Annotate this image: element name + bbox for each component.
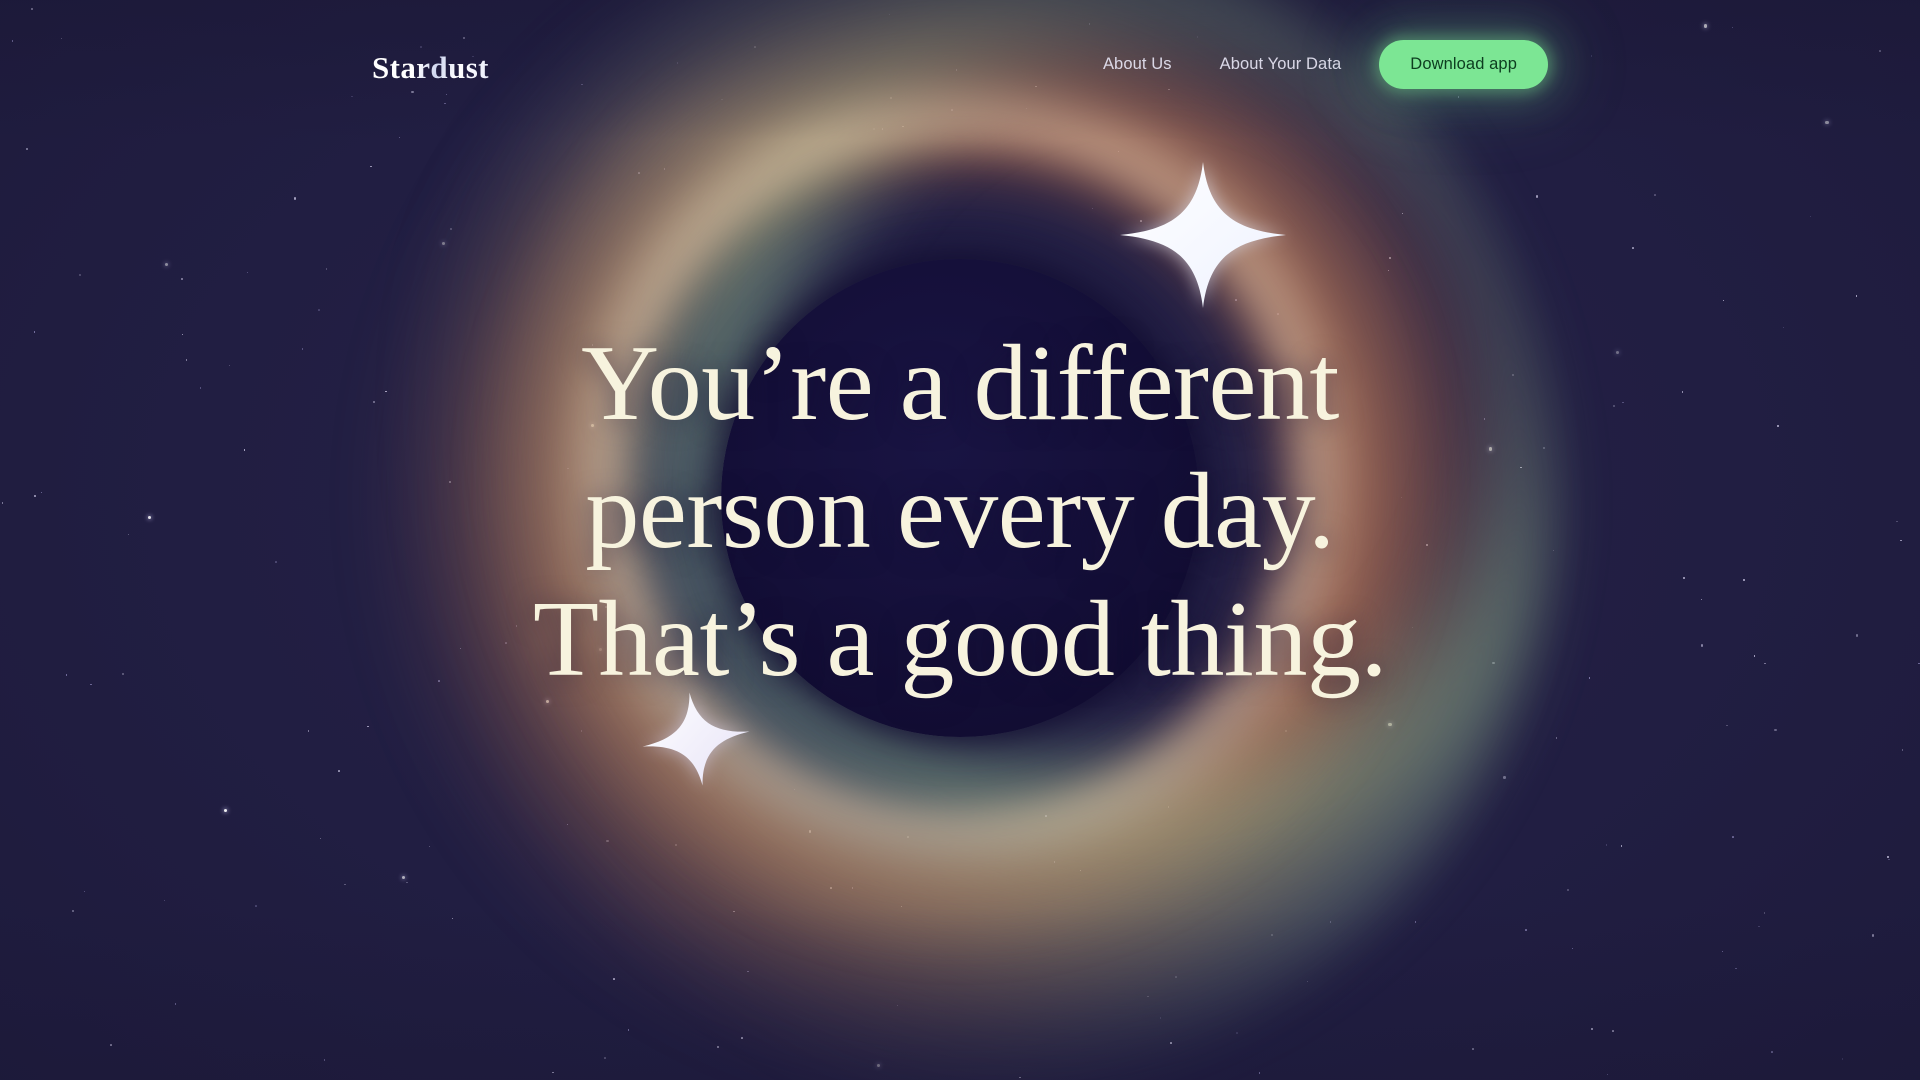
star-dot bbox=[1503, 776, 1505, 778]
star-dot bbox=[1735, 968, 1737, 970]
star-dot bbox=[320, 838, 322, 840]
star-dot bbox=[90, 684, 92, 686]
star-dot bbox=[373, 401, 375, 403]
star-dot bbox=[148, 516, 151, 519]
star-dot bbox=[1612, 1030, 1614, 1032]
star-dot bbox=[399, 137, 401, 139]
star-dot bbox=[1160, 1017, 1162, 1019]
star-dot bbox=[809, 830, 811, 832]
star-dot bbox=[1842, 1058, 1844, 1060]
star-dot bbox=[1556, 737, 1558, 739]
star-dot bbox=[41, 492, 43, 494]
star-dot bbox=[1175, 976, 1177, 978]
starfield bbox=[0, 0, 1920, 1080]
star-dot bbox=[794, 789, 796, 791]
star-dot bbox=[182, 334, 184, 336]
screen-vignette bbox=[0, 0, 1920, 1080]
star-dot bbox=[308, 730, 310, 732]
star-dot bbox=[623, 503, 625, 505]
star-dot bbox=[1726, 725, 1728, 727]
star-dot bbox=[1887, 856, 1889, 858]
star-dot bbox=[438, 680, 440, 682]
star-dot bbox=[604, 1057, 606, 1059]
star-dot bbox=[1732, 836, 1734, 838]
star-dot bbox=[1723, 300, 1725, 302]
star-dot bbox=[1758, 926, 1760, 928]
page-root: You’re a different person every day. Tha… bbox=[0, 0, 1920, 1080]
star-dot bbox=[1019, 1077, 1021, 1079]
star-dot bbox=[567, 824, 569, 826]
star-dot bbox=[1777, 425, 1779, 427]
star-dot bbox=[1771, 1051, 1773, 1053]
star-dot bbox=[1783, 327, 1785, 329]
star-dot bbox=[84, 891, 86, 893]
star-dot bbox=[628, 1029, 630, 1031]
star-dot bbox=[1900, 540, 1902, 542]
nav-link-about-us[interactable]: About Us bbox=[1103, 55, 1172, 74]
star-dot bbox=[186, 359, 188, 361]
star-dot bbox=[1536, 195, 1538, 197]
star-dot bbox=[1236, 1032, 1238, 1034]
star-dot bbox=[110, 1044, 112, 1046]
star-dot bbox=[599, 648, 602, 651]
star-dot bbox=[1080, 870, 1082, 872]
star-dot bbox=[128, 534, 130, 536]
star-dot bbox=[1170, 1042, 1172, 1044]
star-dot bbox=[229, 365, 231, 367]
star-dot bbox=[1285, 730, 1287, 732]
star-dot bbox=[552, 1072, 554, 1074]
star-dot bbox=[1054, 861, 1056, 863]
star-dot bbox=[1415, 921, 1417, 923]
eclipse-graphic bbox=[370, 0, 1550, 1080]
star-dot bbox=[546, 700, 549, 703]
star-dot bbox=[567, 468, 569, 470]
star-dot bbox=[450, 228, 452, 230]
star-dot bbox=[247, 272, 249, 274]
star-dot bbox=[302, 348, 304, 350]
star-dot bbox=[1589, 677, 1591, 679]
headline-line-3: That’s a good thing. bbox=[0, 586, 1920, 694]
star-dot bbox=[429, 846, 431, 848]
star-dot bbox=[1271, 934, 1273, 936]
star-dot bbox=[1520, 467, 1522, 469]
star-dot bbox=[324, 1059, 326, 1061]
star-dot bbox=[830, 887, 832, 889]
star-dot bbox=[406, 882, 408, 884]
headline-line-1: You’re a different bbox=[0, 330, 1920, 438]
star-dot bbox=[717, 1046, 719, 1048]
star-dot bbox=[516, 625, 518, 627]
star-dot bbox=[1856, 634, 1858, 636]
star-dot bbox=[1147, 996, 1149, 998]
star-dot bbox=[1896, 521, 1898, 523]
star-dot bbox=[460, 648, 462, 650]
star-dot bbox=[224, 809, 227, 812]
star-dot bbox=[733, 911, 735, 913]
star-dot bbox=[897, 1005, 899, 1007]
star-dot bbox=[1472, 1048, 1474, 1050]
star-dot bbox=[1616, 351, 1619, 354]
star-dot bbox=[1330, 921, 1332, 923]
star-dot bbox=[1235, 299, 1237, 301]
star-dot bbox=[1388, 723, 1391, 726]
star-dot bbox=[72, 910, 74, 912]
star-dot bbox=[1402, 213, 1404, 215]
star-dot bbox=[1888, 859, 1890, 861]
star-dot bbox=[1277, 313, 1279, 315]
star-dot bbox=[2, 502, 4, 504]
star-dot bbox=[452, 918, 454, 920]
star-dot bbox=[606, 840, 608, 842]
star-dot bbox=[1856, 295, 1858, 297]
star-dot bbox=[1683, 577, 1685, 579]
star-dot bbox=[1401, 497, 1403, 499]
star-dot bbox=[1484, 418, 1486, 420]
star-dot bbox=[275, 561, 277, 563]
star-dot bbox=[122, 673, 124, 675]
star-dot bbox=[66, 674, 68, 676]
star-dot bbox=[505, 642, 507, 644]
star-dot bbox=[1388, 270, 1390, 272]
star-dot bbox=[1872, 934, 1874, 936]
star-dot bbox=[367, 726, 369, 728]
main-nav: About Us About Your Data Download app bbox=[1103, 0, 1548, 128]
star-dot bbox=[26, 148, 28, 150]
star-dot bbox=[882, 128, 884, 130]
page-title: You’re a different person every day. Tha… bbox=[0, 330, 1920, 694]
star-dot bbox=[1764, 663, 1766, 665]
star-dot bbox=[385, 391, 387, 393]
star-dot bbox=[1567, 889, 1569, 891]
star-dot bbox=[1918, 663, 1920, 665]
star-dot bbox=[326, 268, 328, 270]
star-dot bbox=[1412, 627, 1414, 629]
star-dot bbox=[1743, 579, 1745, 581]
star-dot bbox=[200, 387, 202, 389]
star-dot bbox=[1754, 655, 1756, 657]
nav-link-about-your-data[interactable]: About Your Data bbox=[1220, 55, 1342, 74]
star-dot bbox=[1613, 405, 1615, 407]
star-dot bbox=[1492, 662, 1494, 664]
star-dot bbox=[1591, 1028, 1593, 1030]
star-dot bbox=[1682, 391, 1684, 393]
star-dot bbox=[1701, 644, 1703, 646]
star-dot bbox=[338, 770, 340, 772]
star-dot bbox=[1902, 749, 1904, 751]
star-dot bbox=[1553, 550, 1555, 552]
star-dot bbox=[1092, 208, 1094, 210]
star-dot bbox=[402, 876, 405, 879]
star-dot bbox=[1764, 912, 1766, 914]
star-dot bbox=[852, 887, 854, 889]
star-dot bbox=[873, 128, 875, 130]
star-dot bbox=[370, 166, 372, 168]
headline-line-2: person every day. bbox=[0, 458, 1920, 566]
star-dot bbox=[1389, 257, 1391, 259]
hero-section: You’re a different person every day. Tha… bbox=[0, 330, 1920, 694]
corona-inner-rim bbox=[370, 0, 1550, 1080]
star-dot bbox=[294, 197, 296, 199]
star-dot bbox=[664, 168, 666, 170]
star-dot bbox=[581, 730, 583, 732]
star-dot bbox=[1307, 981, 1309, 983]
star-dot bbox=[675, 844, 677, 846]
star-dot bbox=[605, 606, 607, 608]
star-dot bbox=[164, 900, 166, 902]
eclipse-sphere bbox=[721, 259, 1199, 737]
star-dot bbox=[244, 449, 246, 451]
star-dot bbox=[907, 836, 909, 838]
star-dot bbox=[255, 905, 257, 907]
sparkle-large bbox=[1118, 160, 1288, 310]
corona-cool-glow bbox=[370, 0, 1550, 1080]
star-dot bbox=[901, 906, 903, 908]
corona-warm-glow bbox=[370, 0, 1550, 1080]
star-dot bbox=[1606, 844, 1608, 846]
star-dot bbox=[1259, 1072, 1261, 1074]
star-dot bbox=[1045, 815, 1047, 817]
sparkle-small bbox=[640, 690, 752, 788]
star-dot bbox=[449, 481, 451, 483]
star-dot bbox=[175, 1003, 177, 1005]
star-dot bbox=[1572, 948, 1574, 950]
star-dot bbox=[79, 274, 81, 276]
star-dot bbox=[181, 278, 183, 280]
star-dot bbox=[1607, 1074, 1609, 1076]
download-app-button[interactable]: Download app bbox=[1379, 40, 1548, 89]
star-dot bbox=[1621, 845, 1623, 847]
star-dot bbox=[318, 309, 320, 311]
star-dot bbox=[1701, 599, 1703, 601]
star-dot bbox=[1512, 374, 1514, 376]
star-dot bbox=[442, 242, 445, 245]
star-dot bbox=[613, 978, 615, 980]
star-dot bbox=[34, 331, 36, 333]
site-header: Stardust About Us About Your Data Downlo… bbox=[0, 0, 1920, 128]
star-dot bbox=[1426, 544, 1428, 546]
star-dot bbox=[638, 172, 640, 174]
star-dot bbox=[592, 344, 594, 346]
star-dot bbox=[1622, 402, 1624, 404]
star-dot bbox=[1118, 151, 1120, 153]
star-dot bbox=[1810, 216, 1812, 218]
star-dot bbox=[1722, 951, 1724, 953]
star-dot bbox=[1140, 220, 1142, 222]
star-dot bbox=[34, 495, 36, 497]
star-dot bbox=[1168, 806, 1170, 808]
star-dot bbox=[877, 1064, 880, 1067]
star-dot bbox=[1543, 447, 1545, 449]
star-dot bbox=[747, 971, 749, 973]
star-dot bbox=[591, 424, 594, 427]
star-dot bbox=[1632, 247, 1634, 249]
star-dot bbox=[741, 1037, 743, 1039]
star-dot bbox=[344, 884, 346, 886]
brand-logo[interactable]: Stardust bbox=[372, 50, 489, 86]
star-dot bbox=[1774, 729, 1776, 731]
star-dot bbox=[1489, 447, 1492, 450]
star-dot bbox=[165, 263, 168, 266]
star-dot bbox=[1525, 929, 1527, 931]
star-dot bbox=[1654, 194, 1656, 196]
